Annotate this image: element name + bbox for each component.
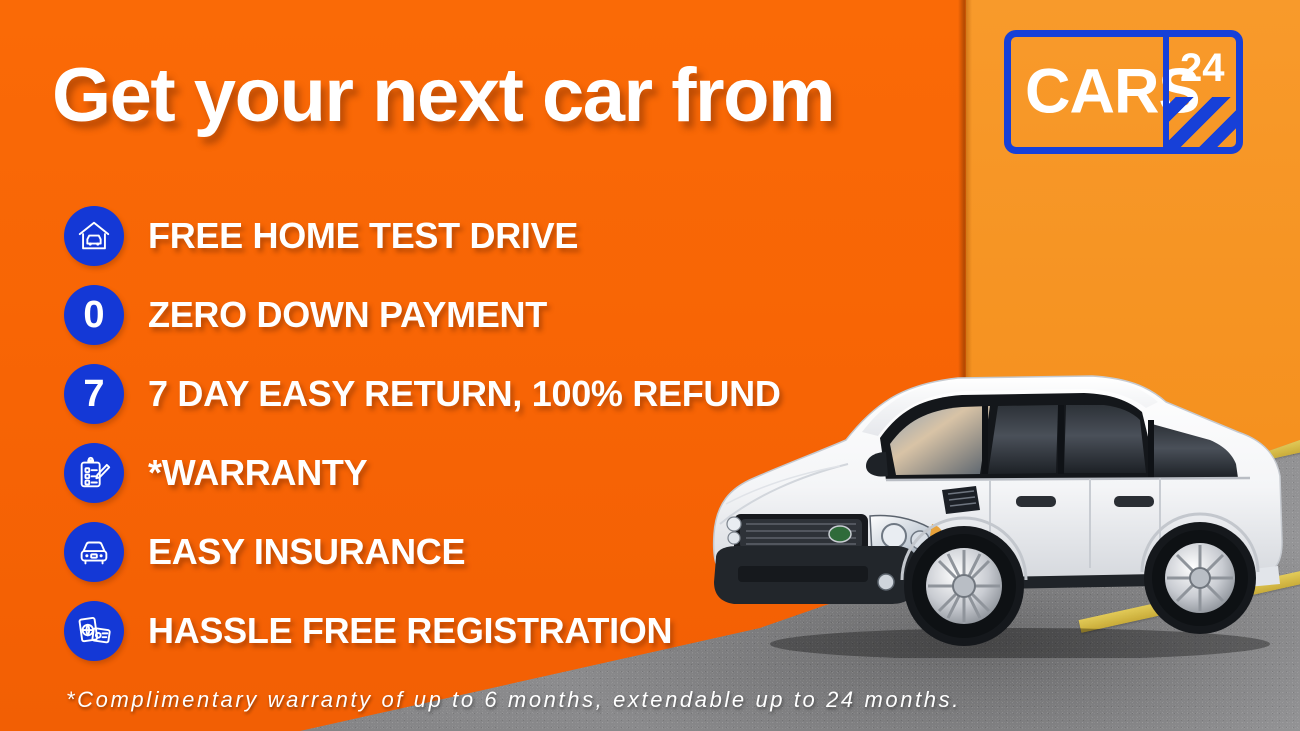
feature-label: FREE HOME TEST DRIVE bbox=[148, 215, 578, 257]
badge-number: 7 bbox=[83, 375, 104, 413]
disclaimer-text: *Complimentary warranty of up to 6 month… bbox=[66, 687, 1276, 713]
logo-number-cell: 24 bbox=[1169, 37, 1236, 147]
feature-label: EASY INSURANCE bbox=[148, 531, 465, 573]
feature-item-free-home-test-drive[interactable]: FREE HOME TEST DRIVE bbox=[64, 196, 781, 275]
feature-list: FREE HOME TEST DRIVE 0 ZERO DOWN PAYMENT… bbox=[64, 196, 781, 670]
feature-item-warranty[interactable]: *WARRANTY bbox=[64, 433, 781, 512]
car-front-icon bbox=[64, 522, 124, 582]
home-car-icon bbox=[64, 206, 124, 266]
feature-label: ZERO DOWN PAYMENT bbox=[148, 294, 547, 336]
advertisement-banner: Get your next car from CARS 24 bbox=[0, 0, 1300, 731]
cars24-logo[interactable]: CARS 24 bbox=[1004, 30, 1243, 154]
documents-id-icon bbox=[64, 601, 124, 661]
badge-number: 0 bbox=[83, 296, 104, 334]
feature-item-hassle-free-registration[interactable]: HASSLE FREE REGISTRATION bbox=[64, 591, 781, 670]
seven-number-icon: 7 bbox=[64, 364, 124, 424]
logo-diagonal-stripes bbox=[1169, 97, 1236, 147]
feature-label: 7 DAY EASY RETURN, 100% REFUND bbox=[148, 373, 781, 415]
zero-number-icon: 0 bbox=[64, 285, 124, 345]
feature-item-zero-down-payment[interactable]: 0 ZERO DOWN PAYMENT bbox=[64, 275, 781, 354]
clipboard-pen-icon bbox=[64, 443, 124, 503]
headline: Get your next car from bbox=[52, 58, 952, 134]
feature-label: HASSLE FREE REGISTRATION bbox=[148, 610, 672, 652]
feature-label: *WARRANTY bbox=[148, 452, 367, 494]
feature-item-7-day-easy-return[interactable]: 7 7 DAY EASY RETURN, 100% REFUND bbox=[64, 354, 781, 433]
feature-item-easy-insurance[interactable]: EASY INSURANCE bbox=[64, 512, 781, 591]
logo-number-24: 24 bbox=[1180, 48, 1225, 88]
